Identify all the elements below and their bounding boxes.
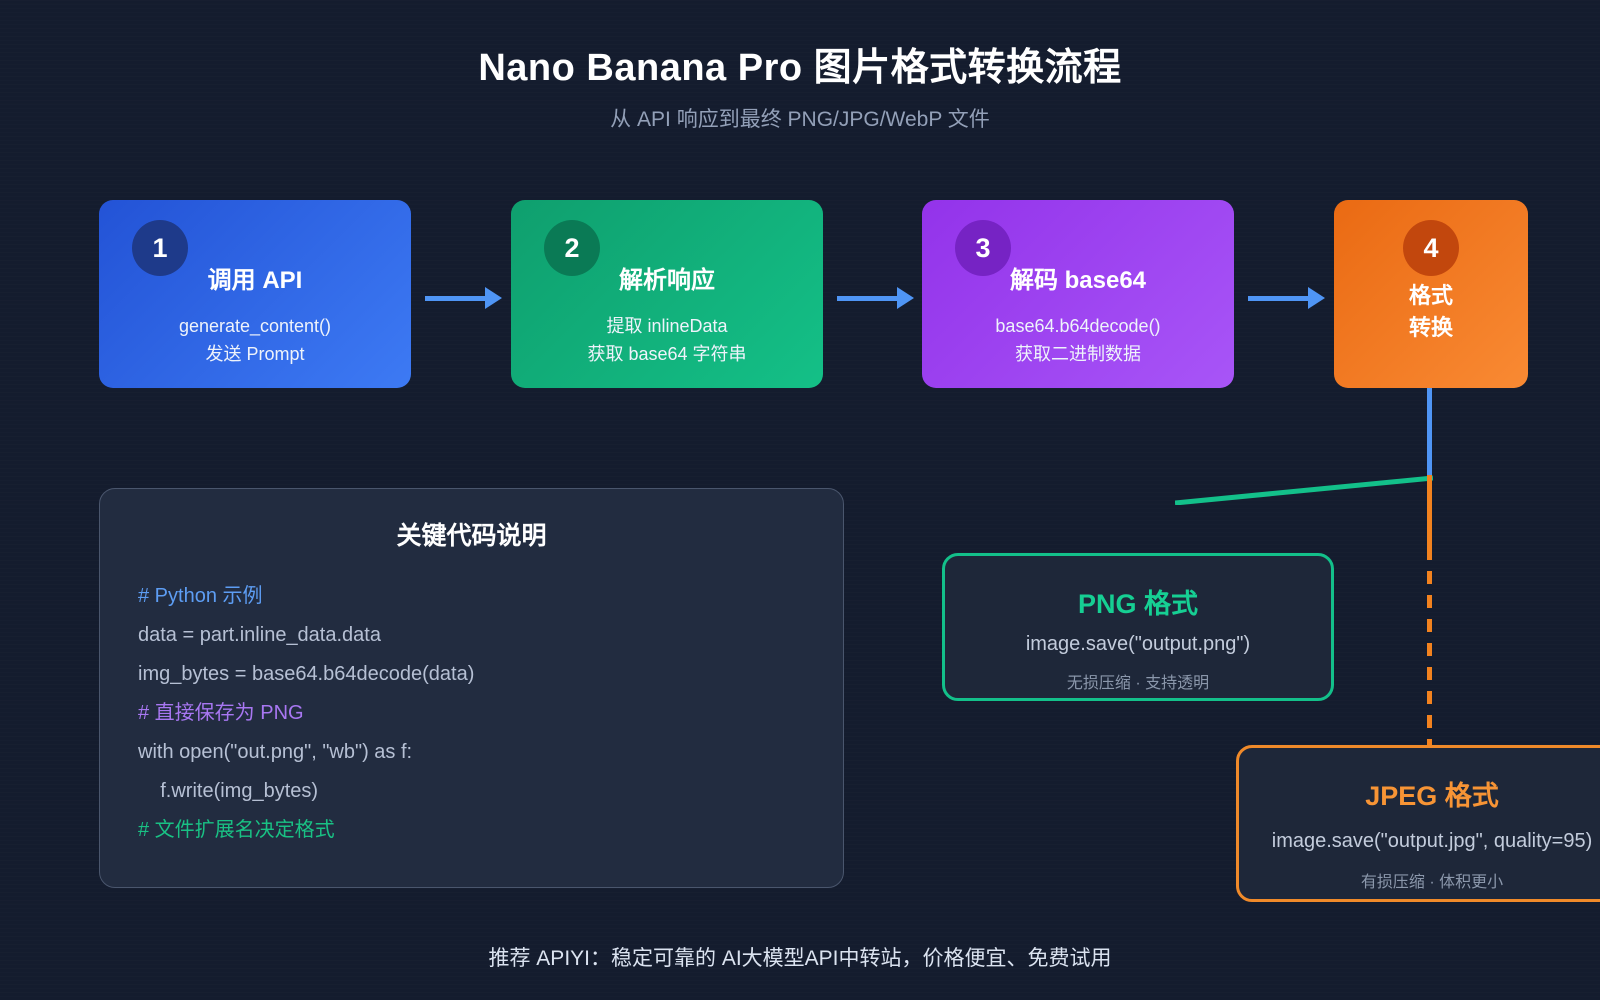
step-box-3[interactable]: 3 解码 base64 base64.b64decode()获取二进制数据 (922, 200, 1234, 388)
code-line: # Python 示例 (138, 577, 823, 616)
connector-line-to-png-card (1175, 455, 1433, 505)
png-card-title: PNG 格式 (945, 582, 1331, 621)
step-number-badge-4: 4 (1403, 220, 1459, 276)
arrow-right-icon-step1-step2 (425, 292, 503, 304)
connector-line-to-jpeg-solid (1427, 475, 1432, 547)
jpeg-card-code: image.save("output.jpg", quality=95) (1239, 830, 1600, 853)
jpeg-format-card[interactable]: JPEG 格式 image.save("output.jpg", quality… (1236, 745, 1600, 902)
code-line: # 直接保存为 PNG (138, 694, 823, 733)
arrow-head (1308, 287, 1325, 309)
connector-line-to-jpeg-dashed (1427, 547, 1432, 745)
step-box-4[interactable]: 4 格式转换 (1334, 200, 1528, 388)
png-card-note: 无损压缩 · 支持透明 (945, 669, 1331, 693)
connector-line-step4-down (1427, 388, 1432, 478)
page-title: Nano Banana Pro 图片格式转换流程 (0, 36, 1600, 91)
step-box-2[interactable]: 2 解析响应 提取 inlineData获取 base64 字符串 (511, 200, 823, 388)
code-panel-title: 关键代码说明 (100, 516, 843, 552)
code-line: data = part.inline_data.data (138, 616, 823, 655)
arrow-head (897, 287, 914, 309)
arrow-right-icon-step3-step4 (1248, 292, 1326, 304)
step-box-1[interactable]: 1 调用 API generate_content()发送 Prompt (99, 200, 411, 388)
code-line: # 文件扩展名决定格式 (138, 811, 823, 850)
arrow-shaft (425, 296, 487, 301)
step-description-1: generate_content()发送 Prompt (99, 313, 411, 369)
step-description-3: base64.b64decode()获取二进制数据 (922, 313, 1234, 369)
jpeg-card-note: 有损压缩 · 体积更小 (1239, 868, 1600, 892)
code-block: # Python 示例 data = part.inline_data.data… (138, 577, 823, 850)
code-line: f.write(img_bytes) (138, 772, 823, 811)
code-line: with open("out.png", "wb") as f: (138, 733, 823, 772)
jpeg-card-title: JPEG 格式 (1239, 774, 1600, 813)
footer-note: 推荐 APIYI：稳定可靠的 AI大模型API中转站，价格便宜、免费试用 (0, 942, 1600, 972)
step-title-3: 解码 base64 (922, 260, 1234, 295)
arrow-head (485, 287, 502, 309)
step-title-4: 格式转换 (1334, 280, 1528, 344)
arrow-right-icon-step2-step3 (837, 292, 915, 304)
png-card-code: image.save("output.png") (945, 633, 1331, 656)
png-format-card[interactable]: PNG 格式 image.save("output.png") 无损压缩 · 支… (942, 553, 1334, 701)
arrow-shaft (1248, 296, 1310, 301)
step-description-2: 提取 inlineData获取 base64 字符串 (511, 313, 823, 369)
page-subtitle: 从 API 响应到最终 PNG/JPG/WebP 文件 (0, 103, 1600, 133)
code-line: img_bytes = base64.b64decode(data) (138, 655, 823, 694)
step-title-1: 调用 API (99, 260, 411, 295)
code-explanation-panel: 关键代码说明 # Python 示例 data = part.inline_da… (99, 488, 844, 888)
step-title-2: 解析响应 (511, 260, 823, 295)
arrow-shaft (837, 296, 899, 301)
